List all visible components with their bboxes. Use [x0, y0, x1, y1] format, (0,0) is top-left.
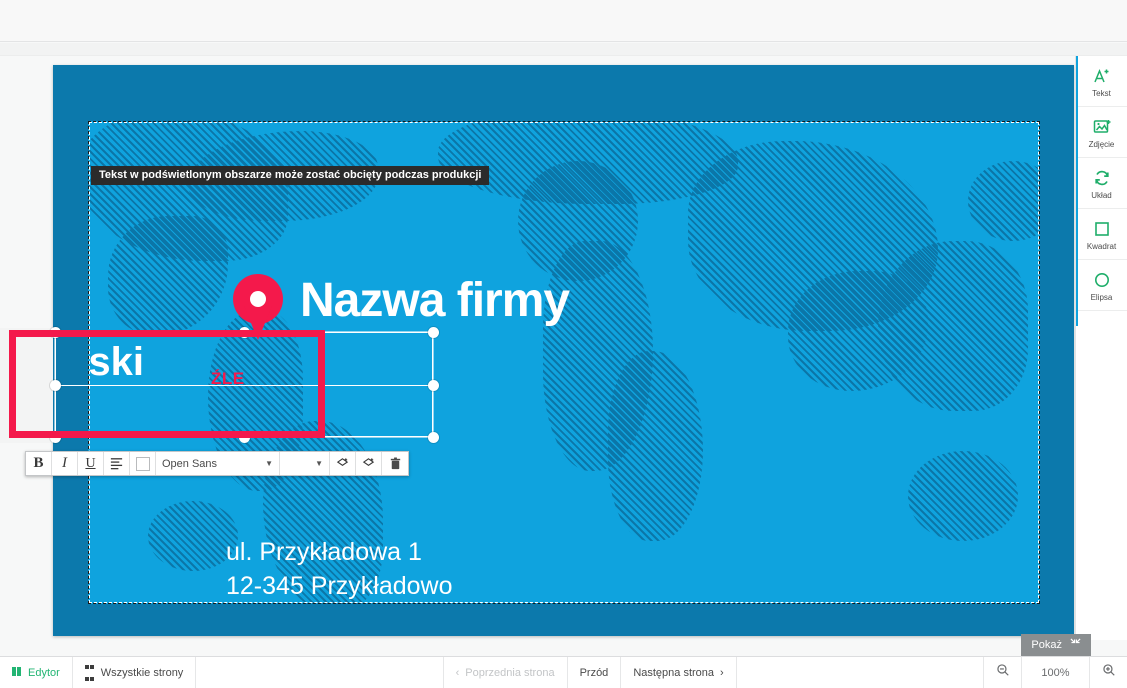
text-add-icon	[1092, 65, 1112, 87]
text-color-swatch[interactable]	[130, 452, 156, 475]
tool-layout-label: Układ	[1091, 191, 1111, 200]
all-pages-button[interactable]: Wszystkie strony	[73, 657, 197, 688]
font-size-select[interactable]: ▼	[280, 452, 330, 475]
layout-refresh-icon	[1092, 167, 1112, 189]
front-side-button[interactable]: Przód	[568, 657, 622, 688]
overflow-warning-rectangle	[9, 330, 325, 438]
zoom-out-button[interactable]	[983, 657, 1021, 688]
rail-accent-bar	[1076, 56, 1078, 326]
editor-icon	[12, 667, 22, 679]
text-format-toolbar[interactable]: B I U Open Sans ▼ ▼	[25, 451, 409, 476]
canvas-workspace[interactable]: Nazwa firmy ŹLE ul. Przykładowa 1 12-345…	[0, 56, 1127, 640]
editor-app: Nazwa firmy ŹLE ul. Przykładowa 1 12-345…	[0, 0, 1127, 688]
tool-text-label: Tekst	[1092, 89, 1111, 98]
clipping-warning-tooltip: Tekst w podświetlonym obszarze może zost…	[91, 166, 489, 185]
contact-phone: 123 456 789	[226, 603, 509, 604]
grid-icon	[85, 661, 95, 685]
font-family-select[interactable]: Open Sans ▼	[156, 452, 280, 475]
zoom-in-button[interactable]	[1089, 657, 1127, 688]
resize-handle-bottom-right[interactable]	[428, 432, 439, 443]
tool-square[interactable]: Kwadrat	[1076, 209, 1127, 260]
bold-button[interactable]: B	[26, 452, 52, 475]
ellipse-icon	[1092, 269, 1112, 291]
delete-icon[interactable]	[382, 452, 408, 475]
tool-layout[interactable]: Układ	[1076, 158, 1127, 209]
company-name[interactable]: Nazwa firmy	[300, 273, 569, 328]
secondary-header-bar	[0, 43, 1127, 56]
bottom-bar-spacer	[196, 657, 443, 688]
previous-page-button[interactable]: ‹ Poprzednia strona	[444, 657, 568, 688]
contact-street: ul. Przykładowa 1	[226, 535, 509, 569]
contact-city: 12-345 Przykładowo	[226, 569, 509, 603]
italic-button[interactable]: I	[52, 452, 78, 475]
chevron-right-icon: ›	[720, 667, 724, 679]
tool-image[interactable]: Zdjęcie	[1076, 107, 1127, 158]
tool-text[interactable]: Tekst	[1076, 56, 1127, 107]
previous-page-label: Poprzednia strona	[465, 667, 554, 679]
next-page-label: Następna strona	[633, 667, 714, 679]
bottom-status-bar[interactable]: Edytor Wszystkie strony ‹ Poprzednia str…	[0, 656, 1127, 688]
chevron-left-icon: ‹	[456, 667, 460, 679]
front-side-label: Przód	[580, 667, 609, 679]
zoom-level-value[interactable]: 100%	[1021, 657, 1089, 688]
chevron-down-icon: ▼	[315, 459, 323, 468]
tool-ellipse-label: Elipsa	[1091, 293, 1113, 302]
contact-details-block[interactable]: ul. Przykładowa 1 12-345 Przykładowo 123…	[226, 535, 509, 604]
square-icon	[1092, 218, 1112, 240]
tool-square-label: Kwadrat	[1087, 242, 1116, 251]
editor-button[interactable]: Edytor	[0, 657, 73, 688]
bottom-bar-end-spacer	[737, 657, 983, 688]
resize-handle-top-right[interactable]	[428, 327, 439, 338]
all-pages-label: Wszystkie strony	[101, 667, 184, 679]
zoom-out-icon	[996, 663, 1010, 682]
bring-forward-icon[interactable]	[330, 452, 356, 475]
zoom-in-icon	[1102, 663, 1116, 682]
underline-button[interactable]: U	[78, 452, 104, 475]
image-add-icon	[1092, 116, 1112, 138]
tool-rail[interactable]: Tekst Zdjęcie Układ	[1075, 56, 1127, 640]
tool-image-label: Zdjęcie	[1089, 140, 1115, 149]
font-family-value: Open Sans	[162, 458, 217, 470]
chevron-down-icon: ▼	[265, 459, 273, 468]
send-backward-icon[interactable]	[356, 452, 382, 475]
show-panel-label: Pokaż	[1031, 639, 1062, 651]
tool-ellipse[interactable]: Elipsa	[1076, 260, 1127, 311]
align-icon[interactable]	[104, 452, 130, 475]
collapse-arrows-icon	[1070, 638, 1081, 652]
resize-handle-middle-right[interactable]	[428, 380, 439, 391]
show-panel-button[interactable]: Pokaż	[1021, 634, 1091, 656]
next-page-button[interactable]: Następna strona ›	[621, 657, 736, 688]
top-header-bar	[0, 0, 1127, 42]
editor-label: Edytor	[28, 667, 60, 679]
